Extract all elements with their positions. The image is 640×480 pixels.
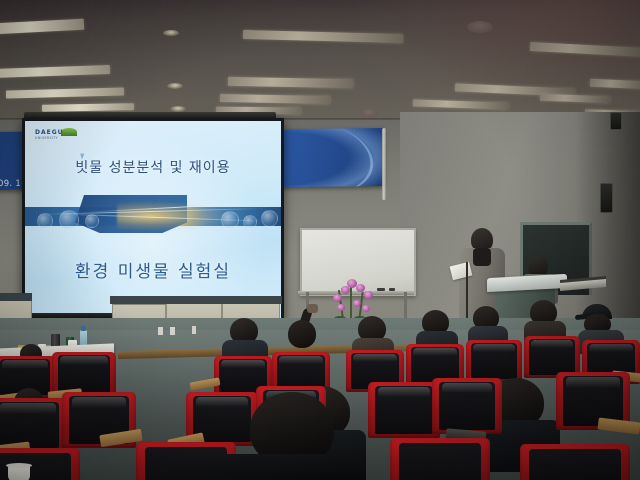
orchid-bloom: [337, 304, 345, 311]
seat-highlight: [279, 356, 323, 364]
orchid-bloom: [353, 300, 361, 307]
band-bubble: [37, 213, 53, 229]
seat-highlight: [221, 360, 265, 368]
orchid-bloom: [356, 284, 365, 292]
seat-highlight: [2, 360, 48, 369]
ceiling-light-fixture: [6, 87, 124, 98]
bottle-cap: [81, 326, 86, 331]
ceiling-light-fixture: [42, 103, 134, 112]
ceiling-light-fixture: [228, 77, 353, 88]
seat-highlight: [353, 354, 397, 362]
seat-highlight: [413, 348, 457, 356]
orchid-bloom: [362, 305, 370, 312]
presentation-slide: DAEGU UNIVERSITY 빗물 성분분석 및 재이용 환경 미생물 실험…: [25, 121, 281, 318]
seat-highlight: [531, 340, 573, 348]
audience-hand: [307, 304, 318, 313]
band-bubble: [243, 215, 257, 229]
lecture-hall-photo: 발표회 발표회 : 대구대학교 환경공학과 09. 11. 20(금 DAEGU…: [0, 0, 640, 480]
seat-highlight: [589, 344, 633, 352]
university-logo: DAEGU UNIVERSITY: [35, 126, 93, 142]
logo-wordmark-sub: UNIVERSITY: [35, 136, 58, 140]
band-bubble: [85, 214, 99, 228]
wall-dark-strip: [0, 293, 32, 301]
floor-outlet: [192, 326, 196, 334]
ceiling-light-fixture: [220, 94, 330, 104]
seat-highlight: [0, 403, 56, 414]
band-bubble: [221, 211, 239, 229]
audience-head: [288, 320, 316, 348]
ceiling-downlight: [167, 83, 183, 89]
band-bubble: [261, 210, 278, 227]
audience-member-foreground: [214, 392, 364, 480]
slide-decorative-band: [25, 193, 281, 245]
ceiling-light-fixture: [0, 19, 84, 35]
seat-cushion: [529, 449, 621, 480]
seat-highlight: [60, 356, 108, 365]
slide-title: 빗물 성분분석 및 재이용: [25, 157, 281, 177]
orchid-bloom: [333, 294, 342, 302]
banner-support-rod: [382, 128, 386, 200]
whiteboard-marker: [389, 288, 395, 291]
seat-highlight: [378, 387, 430, 397]
ceiling-light-fixture: [0, 65, 110, 78]
seat-highlight: [442, 383, 492, 393]
floor-outlet: [170, 327, 175, 335]
paper-cup: [8, 466, 30, 480]
ceiling: [0, 0, 640, 128]
seat-highlight: [72, 397, 126, 408]
orchid-bloom: [364, 291, 373, 299]
audience-torso: [214, 454, 364, 480]
wall-speaker: [610, 112, 622, 130]
projection-screen: DAEGU UNIVERSITY 빗물 성분분석 및 재이용 환경 미생물 실험…: [22, 118, 284, 321]
seat-highlight: [473, 344, 515, 352]
band-bubble: [59, 210, 79, 230]
floor-outlet: [158, 327, 163, 335]
ceiling-vent: [360, 109, 378, 117]
cup-rim: [6, 463, 32, 468]
orchid-stem: [350, 284, 352, 320]
wall-dark-strip: [110, 296, 282, 304]
ceiling-vent: [467, 21, 493, 33]
seat-highlight: [566, 377, 620, 388]
ceiling-downlight: [163, 30, 179, 36]
logo-wordmark: DAEGU: [35, 129, 64, 136]
wall-speaker: [600, 183, 613, 213]
seat-cushion: [399, 443, 481, 480]
presenter-scarf: [473, 248, 491, 266]
